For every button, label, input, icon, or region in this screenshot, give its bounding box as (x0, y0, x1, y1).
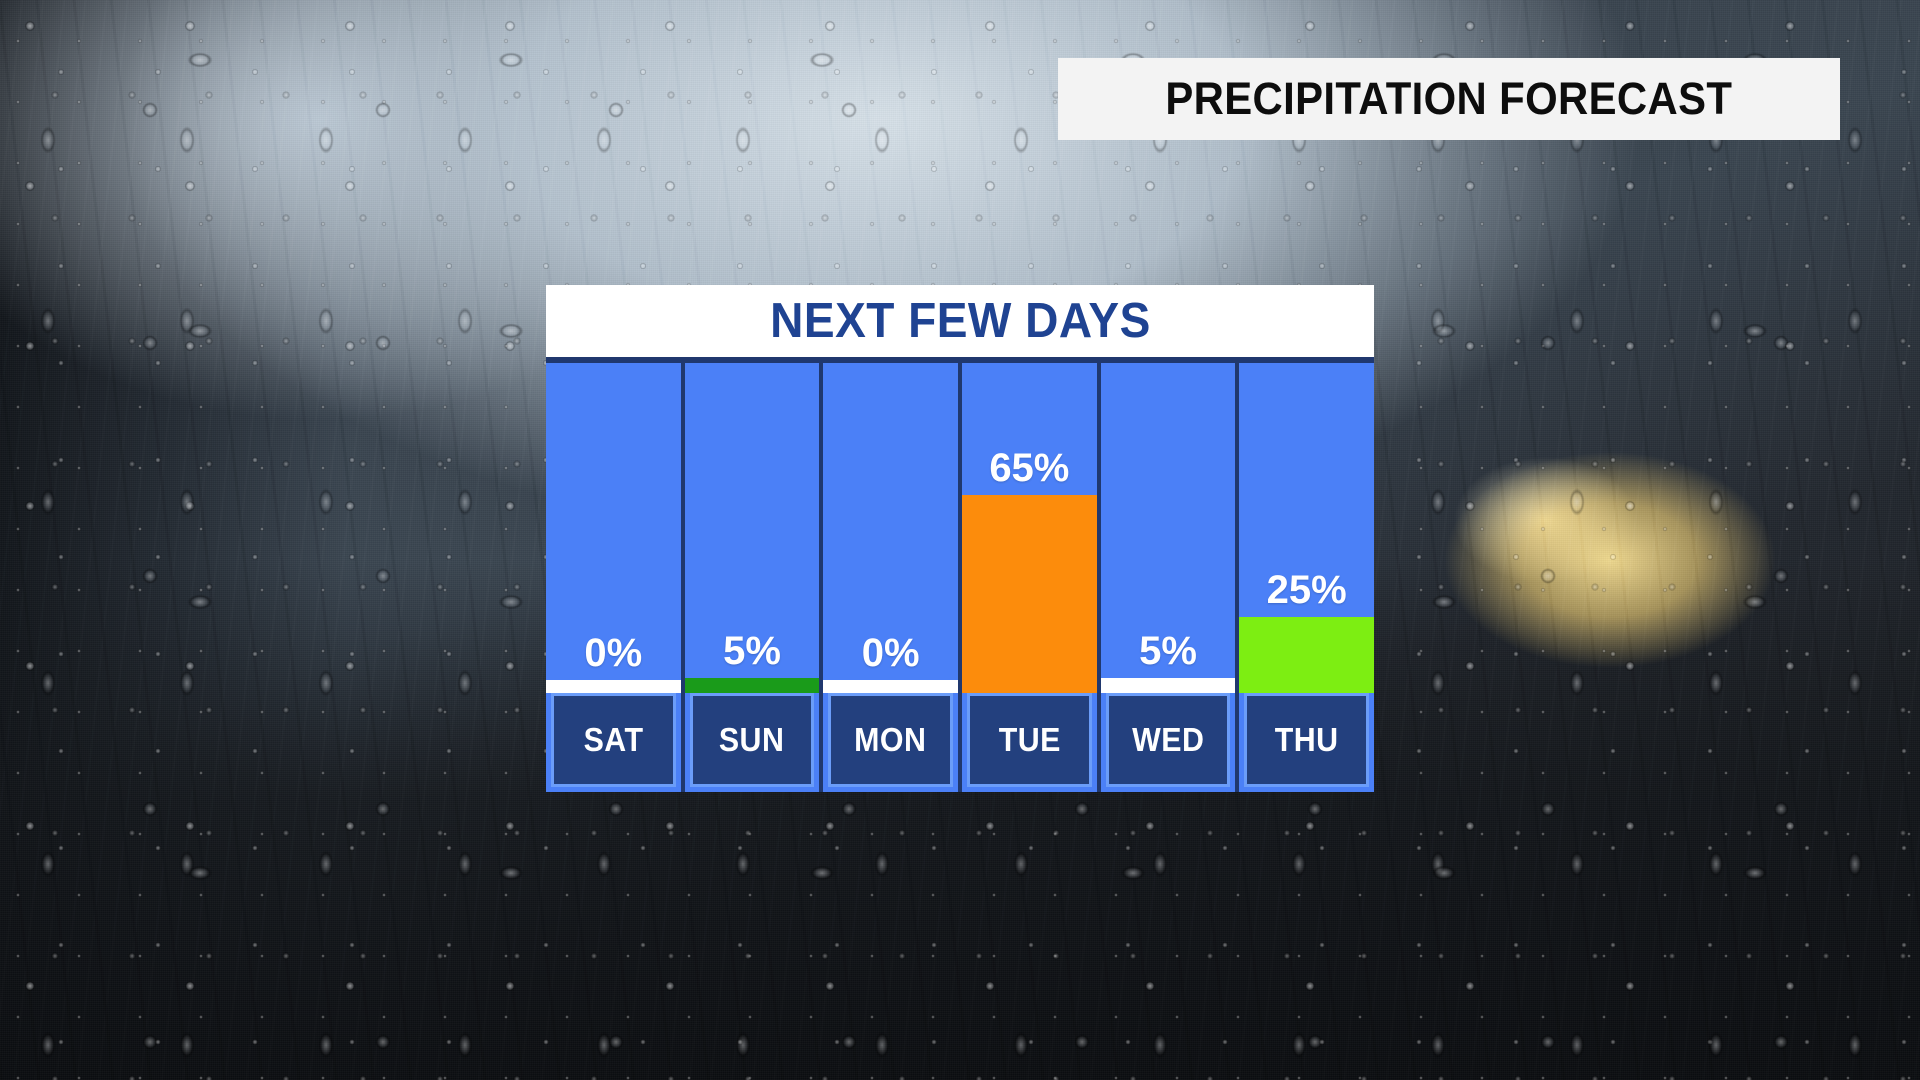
precipitation-forecast-banner: PRECIPITATION FORECAST (1058, 58, 1840, 140)
day-label-tue: TUE (998, 721, 1060, 759)
precip-value-wed: 5% (1101, 631, 1236, 671)
precip-bar-tue (962, 495, 1097, 693)
forecast-column-sun[interactable]: 5%SUN (685, 363, 820, 792)
forecast-panel: NEXT FEW DAYS 0%SAT5%SUN0%MON65%TUE5%WED… (546, 285, 1374, 792)
forecast-column-tue[interactable]: 65%TUE (962, 363, 1097, 792)
day-label-wed: WED (1132, 721, 1204, 759)
forecast-column-mon[interactable]: 0%MON (823, 363, 958, 792)
forecast-columns: 0%SAT5%SUN0%MON65%TUE5%WED25%THU (546, 363, 1374, 792)
day-label-box-sat[interactable]: SAT (551, 693, 676, 787)
day-label-box-tue[interactable]: TUE (967, 693, 1092, 787)
precip-value-thu: 25% (1239, 570, 1374, 610)
day-label-box-sun[interactable]: SUN (690, 693, 815, 787)
precip-value-sun: 5% (685, 631, 820, 671)
precip-bar-sat (546, 680, 681, 693)
day-label-mon: MON (855, 721, 927, 759)
precip-value-mon: 0% (823, 633, 958, 673)
panel-header: NEXT FEW DAYS (546, 285, 1374, 357)
day-label-thu: THU (1275, 721, 1339, 759)
panel-title: NEXT FEW DAYS (770, 293, 1151, 349)
day-label-box-thu[interactable]: THU (1244, 693, 1369, 787)
forecast-column-thu[interactable]: 25%THU (1239, 363, 1374, 792)
precip-value-sat: 0% (546, 633, 681, 673)
forecast-column-sat[interactable]: 0%SAT (546, 363, 681, 792)
precip-bar-sun (685, 678, 820, 693)
day-label-sun: SUN (719, 721, 784, 759)
day-label-box-mon[interactable]: MON (828, 693, 953, 787)
precip-bar-wed (1101, 678, 1236, 693)
forecast-column-wed[interactable]: 5%WED (1101, 363, 1236, 792)
day-label-sat: SAT (583, 721, 643, 759)
precip-bar-thu (1239, 617, 1374, 693)
precip-bar-mon (823, 680, 958, 693)
day-label-box-wed[interactable]: WED (1106, 693, 1231, 787)
precip-value-tue: 65% (962, 448, 1097, 488)
banner-title: PRECIPITATION FORECAST (1166, 73, 1733, 125)
